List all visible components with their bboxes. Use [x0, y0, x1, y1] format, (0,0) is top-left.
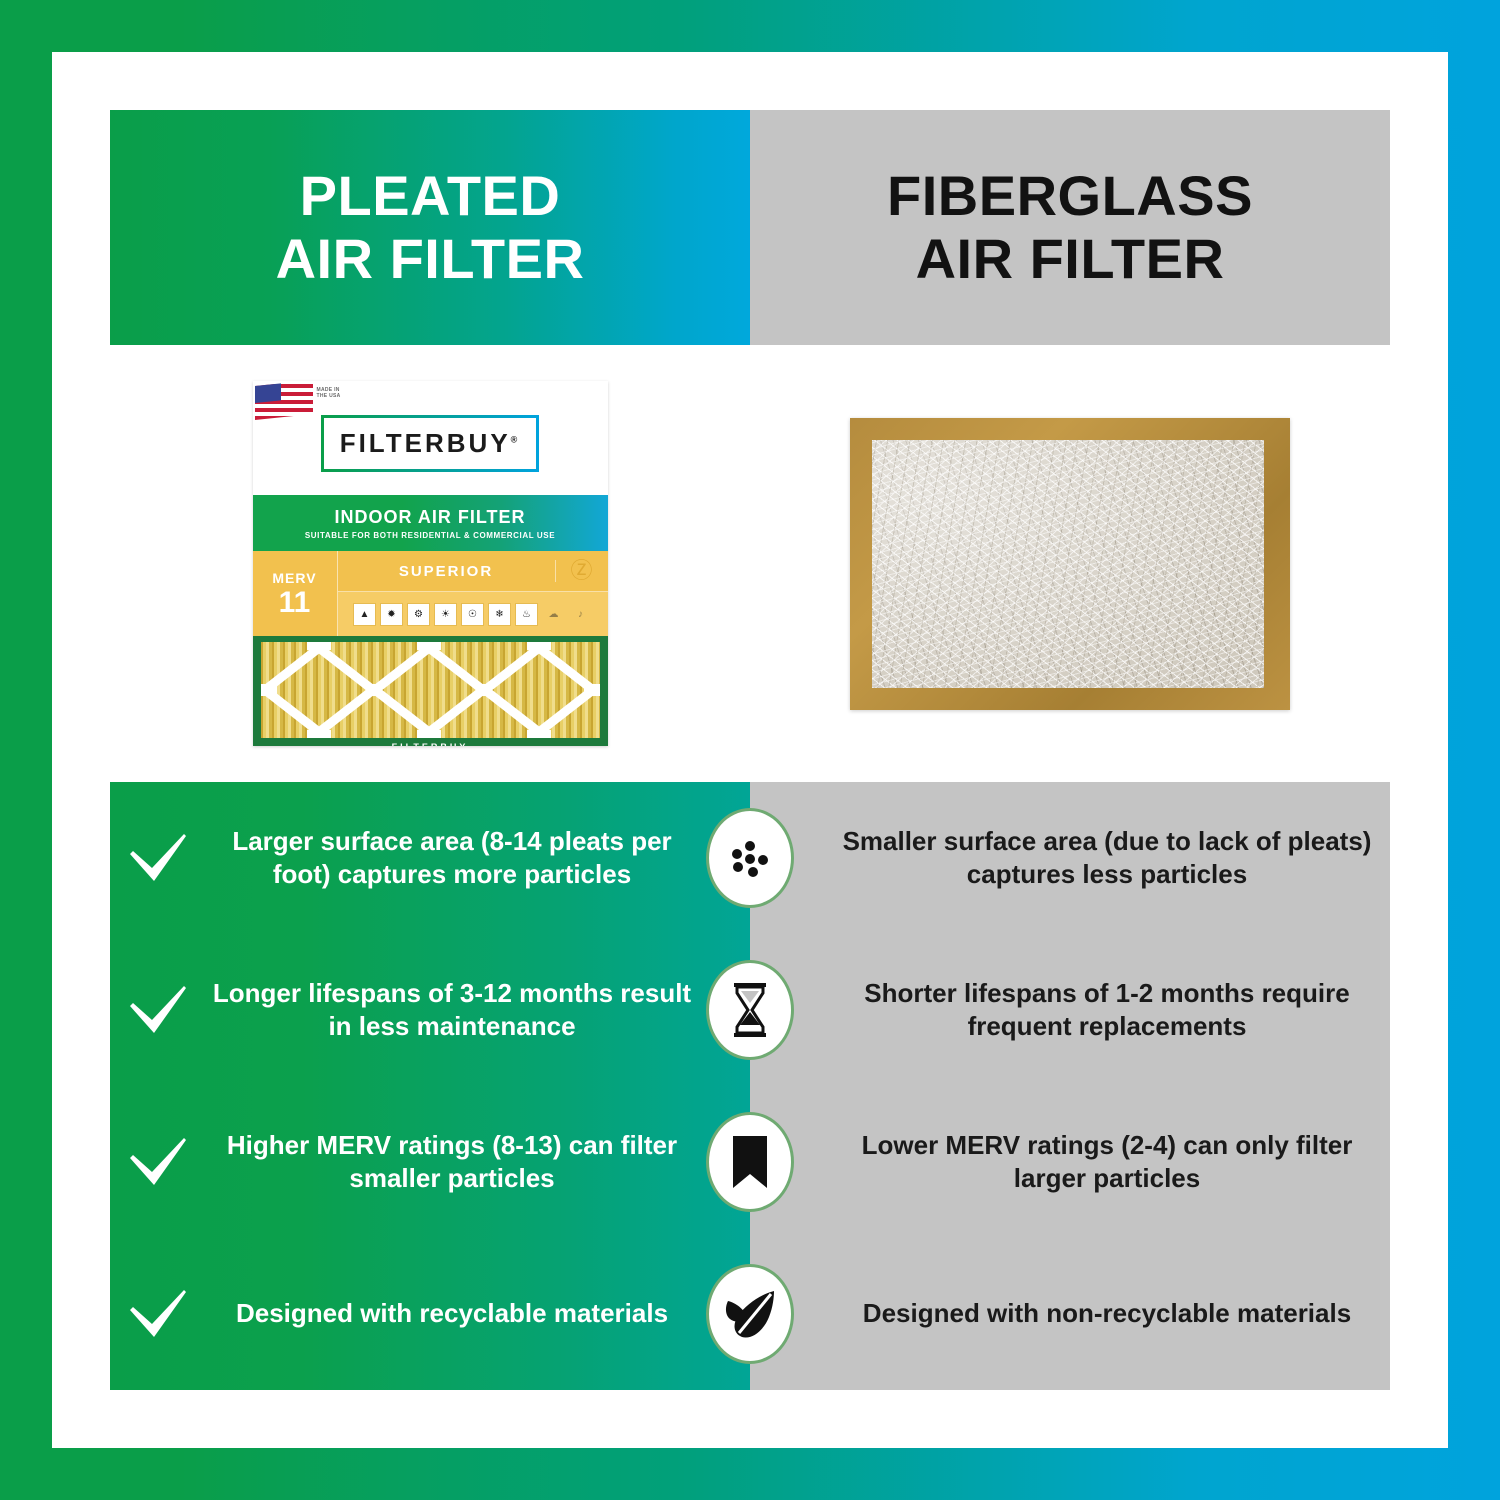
fiberglass-filter-image [850, 418, 1290, 710]
row-right-fiberglass: Shorter lifespans of 1-2 months require … [750, 977, 1390, 1044]
row-text-pleated: Longer lifespans of 3-12 months result i… [206, 977, 698, 1044]
row-left-pleated: Designed with recyclable materials [110, 1288, 750, 1340]
comparison-row: Higher MERV ratings (8-13) can filter sm… [110, 1086, 1390, 1238]
pollen-icon: ✹ [380, 603, 403, 626]
odor-icon: ♪ [569, 603, 592, 626]
comparison-section: Larger surface area (8-14 pleats per foo… [110, 782, 1390, 1390]
smoke-icon: ♨ [515, 603, 538, 626]
row-text-fiberglass: Smaller surface area (due to lack of ple… [824, 825, 1390, 892]
row-text-fiberglass: Lower MERV ratings (2-4) can only filter… [824, 1129, 1390, 1196]
header-row: PLEATED AIR FILTER FIBERGLASS AIR FILTER [110, 110, 1390, 345]
merv-gold-section: MERV 11 SUPERIOR Ⓩ ▲ ✹ ⚙ [253, 551, 608, 636]
hourglass-icon [706, 960, 794, 1060]
header-title-pleated: PLEATED AIR FILTER [276, 165, 585, 290]
pleated-media-section: FILTERBUY [253, 636, 608, 746]
particles-icon [706, 808, 794, 908]
bookmark-glyph [730, 1134, 770, 1190]
leaf-glyph [722, 1288, 778, 1340]
virus-icon: ☉ [461, 603, 484, 626]
hourglass-glyph [727, 981, 773, 1039]
row-left-pleated: Larger surface area (8-14 pleats per foo… [110, 825, 750, 892]
checkmark-glyph [127, 832, 189, 884]
usa-flag-icon [255, 381, 313, 420]
row-right-fiberglass: Designed with non-recyclable materials [750, 1297, 1390, 1330]
white-card: PLEATED AIR FILTER FIBERGLASS AIR FILTER… [52, 52, 1448, 1448]
checkmark-glyph [127, 1136, 189, 1188]
pleated-filter-box-image: MADE IN THE USA FILTERBUY® INDOOR AIR FI… [253, 381, 608, 746]
comparison-row: Designed with recyclable materials Desig… [110, 1238, 1390, 1390]
checkmark-icon [110, 1288, 206, 1340]
product-images-row: MADE IN THE USA FILTERBUY® INDOOR AIR FI… [110, 345, 1390, 782]
product-cell-fiberglass [750, 345, 1390, 782]
particles-glyph [724, 832, 776, 884]
checkmark-icon [110, 832, 206, 884]
row-text-pleated: Larger surface area (8-14 pleats per foo… [206, 825, 698, 892]
header-panel-fiberglass: FIBERGLASS AIR FILTER [750, 110, 1390, 345]
tier-label: SUPERIOR [338, 563, 555, 580]
dust-icon: ▲ [353, 603, 376, 626]
comparison-rows: Larger surface area (8-14 pleats per foo… [110, 782, 1390, 1390]
smog-icon: ☁ [542, 603, 565, 626]
header-panel-pleated: PLEATED AIR FILTER [110, 110, 750, 345]
made-in-usa-label: MADE IN THE USA [317, 387, 341, 400]
row-left-pleated: Higher MERV ratings (8-13) can filter sm… [110, 1129, 750, 1196]
leaf-icon [706, 1264, 794, 1364]
bacteria-icon: ☀ [434, 603, 457, 626]
mold-icon: ⚙ [407, 603, 430, 626]
checkmark-glyph [127, 984, 189, 1036]
row-text-fiberglass: Designed with non-recyclable materials [824, 1297, 1390, 1330]
checkmark-glyph [127, 1288, 189, 1340]
indoor-air-filter-band: INDOOR AIR FILTER SUITABLE FOR BOTH RESI… [253, 495, 608, 551]
bookmark-icon [706, 1112, 794, 1212]
band-sub-text: SUITABLE FOR BOTH RESIDENTIAL & COMMERCI… [305, 531, 555, 540]
header-title-fiberglass: FIBERGLASS AIR FILTER [887, 165, 1253, 290]
checkmark-icon [110, 984, 206, 1036]
filterbuy-logo-frame: FILTERBUY® [321, 415, 540, 472]
row-text-pleated: Designed with recyclable materials [206, 1297, 698, 1330]
product-cell-pleated: MADE IN THE USA FILTERBUY® INDOOR AIR FI… [110, 345, 750, 782]
merv-label: MERV [272, 570, 316, 586]
row-right-fiberglass: Smaller surface area (due to lack of ple… [750, 825, 1390, 892]
comparison-row: Larger surface area (8-14 pleats per foo… [110, 782, 1390, 934]
row-left-pleated: Longer lifespans of 3-12 months result i… [110, 977, 750, 1044]
tier-row: SUPERIOR Ⓩ [338, 551, 608, 592]
fiberglass-media [872, 440, 1264, 688]
filter-bottom-brand: FILTERBUY [261, 738, 600, 746]
checkmark-icon [110, 1136, 206, 1188]
row-right-fiberglass: Lower MERV ratings (2-4) can only filter… [750, 1129, 1390, 1196]
comparison-row: Longer lifespans of 3-12 months result i… [110, 934, 1390, 1086]
ul-seal-icon: Ⓩ [555, 560, 608, 582]
pet-dander-icon: ❄ [488, 603, 511, 626]
merv-block: MERV 11 [253, 551, 338, 636]
filter-box-top: MADE IN THE USA FILTERBUY® [253, 381, 608, 495]
filterbuy-logo-text: FILTERBUY® [340, 428, 521, 459]
pleated-media [261, 642, 600, 738]
feature-icon-row: ▲ ✹ ⚙ ☀ ☉ ❄ ♨ ☁ ♪ [338, 592, 608, 636]
merv-value: 11 [279, 588, 311, 618]
infographic-page: PLEATED AIR FILTER FIBERGLASS AIR FILTER… [0, 0, 1500, 1500]
support-grid-icon [261, 642, 600, 738]
merv-right-block: SUPERIOR Ⓩ ▲ ✹ ⚙ ☀ ☉ ❄ ♨ ☁ [338, 551, 608, 636]
row-text-fiberglass: Shorter lifespans of 1-2 months require … [824, 977, 1390, 1044]
row-text-pleated: Higher MERV ratings (8-13) can filter sm… [206, 1129, 698, 1196]
band-main-text: INDOOR AIR FILTER [335, 507, 526, 528]
